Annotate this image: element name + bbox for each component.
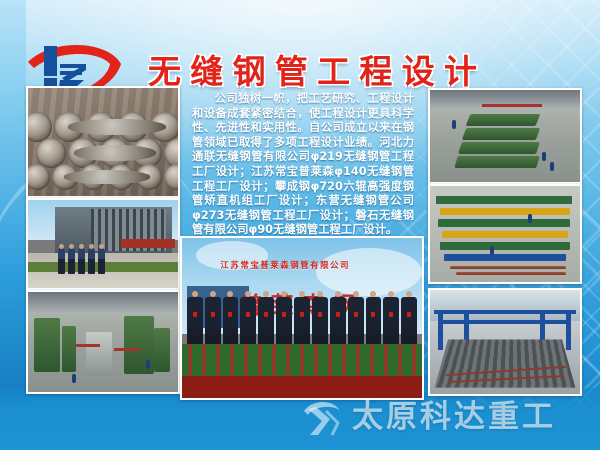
photo-content (430, 186, 580, 282)
title-char-6: 设 (402, 45, 436, 93)
title-char-7: 计 (444, 45, 478, 93)
steel-pipe-cooling-bed-photo (428, 288, 582, 396)
opening-ceremony-photo: 江苏常宝普莱森钢管有限公司 普莱森钢 (180, 236, 424, 400)
group-of-people (58, 248, 105, 274)
photo-content (28, 200, 178, 288)
title-char-1: 缝 (190, 45, 224, 93)
poster-root: 无 缝 钢 管 工 程 设 计 公司独树一帜，把工艺研究、工程设计和设备成套紧密… (0, 0, 600, 450)
ceremony-attendees (187, 297, 417, 345)
photo-content (28, 88, 178, 196)
kd-circular-mark-icon (300, 395, 344, 439)
rolling-mill-workshop-photo (26, 290, 180, 394)
poster-title: 无 缝 钢 管 工 程 设 计 (148, 46, 478, 92)
title-char-3: 管 (275, 45, 309, 93)
title-char-5: 程 (359, 45, 393, 93)
photo-content (430, 90, 580, 182)
photo-content: 江苏常宝普莱森钢管有限公司 普莱森钢 (182, 238, 422, 398)
photo-content (430, 290, 580, 394)
photo-content (28, 292, 178, 392)
seamless-steel-pipes-photo (26, 86, 180, 198)
workshop-roof (430, 90, 580, 110)
factory-gate-group-photo (26, 198, 180, 290)
banner-company-name: 江苏常宝普莱森钢管有限公司 (220, 259, 402, 271)
title-char-2: 钢 (233, 45, 267, 93)
watermark: 太原科达重工 (300, 394, 590, 440)
straightening-line-photo (428, 184, 582, 284)
title-char-4: 工 (317, 45, 351, 93)
company-sign (121, 239, 175, 249)
equipment-assembly-workshop-photo (428, 88, 582, 184)
watermark-text: 太原科达重工 (352, 402, 556, 433)
workshop-roof (28, 292, 178, 314)
hall-roof (430, 290, 580, 321)
body-paragraph: 公司独树一帜，把工艺研究、工程设计和设备成套紧密结合，使工程设计更具科学性、先进… (192, 92, 414, 238)
